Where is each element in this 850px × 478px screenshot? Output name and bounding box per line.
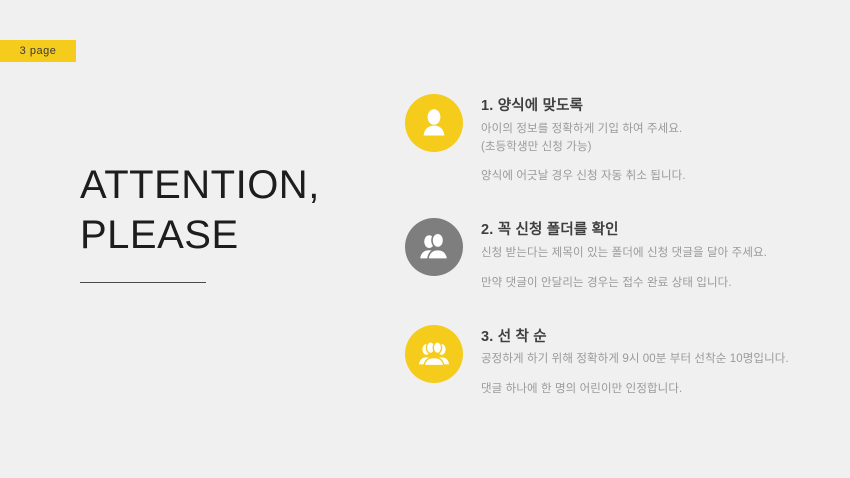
page-number-label: 3 page — [20, 46, 57, 57]
list-item-text: 1. 양식에 맞도록 아이의 정보를 정확하게 기입 하여 주세요. (초등학생… — [463, 92, 686, 186]
list-item-title: 2. 꼭 신청 폴더를 확인 — [481, 220, 767, 242]
list-item-line: 양식에 어긋날 경우 신청 자동 취소 됩니다. — [481, 168, 686, 186]
single-person-icon — [405, 94, 463, 152]
group-people-icon — [405, 325, 463, 383]
list-item-title: 3. 선 착 순 — [481, 327, 789, 349]
list-item-text: 2. 꼭 신청 폴더를 확인 신청 받는다는 제목이 있는 폴더에 신청 댓글을… — [463, 216, 767, 292]
list-item-line: 댓글 하나에 한 명의 어린이만 인정합니다. — [481, 381, 789, 399]
page-title-line-2: PLEASE — [80, 210, 370, 260]
list-item-line: 만약 댓글이 안달리는 경우는 접수 완료 상태 입니다. — [481, 275, 767, 293]
list-item: 3. 선 착 순 공정하게 하기 위해 정확하게 9시 00분 부터 선착순 1… — [405, 323, 835, 399]
page-title-line-1: ATTENTION, — [80, 160, 370, 210]
list-item-line: 아이의 정보를 정확하게 기입 하여 주세요. — [481, 121, 686, 139]
list-item-title: 1. 양식에 맞도록 — [481, 96, 686, 118]
list-item: 1. 양식에 맞도록 아이의 정보를 정확하게 기입 하여 주세요. (초등학생… — [405, 92, 835, 186]
list-item-line: 공정하게 하기 위해 정확하게 9시 00분 부터 선착순 10명입니다. — [481, 351, 789, 369]
list-item: 2. 꼭 신청 폴더를 확인 신청 받는다는 제목이 있는 폴더에 신청 댓글을… — [405, 216, 835, 292]
two-people-icon — [405, 218, 463, 276]
list-item-line: 신청 받는다는 제목이 있는 폴더에 신청 댓글을 달아 주세요. — [481, 245, 767, 263]
list-item-text: 3. 선 착 순 공정하게 하기 위해 정확하게 9시 00분 부터 선착순 1… — [463, 323, 789, 399]
instruction-list: 1. 양식에 맞도록 아이의 정보를 정확하게 기입 하여 주세요. (초등학생… — [405, 92, 835, 399]
page-number-badge: 3 page — [0, 40, 76, 62]
page-title: ATTENTION, PLEASE — [80, 160, 370, 283]
list-item-line: (초등학생만 신청 가능) — [481, 139, 686, 157]
title-divider — [80, 282, 206, 283]
